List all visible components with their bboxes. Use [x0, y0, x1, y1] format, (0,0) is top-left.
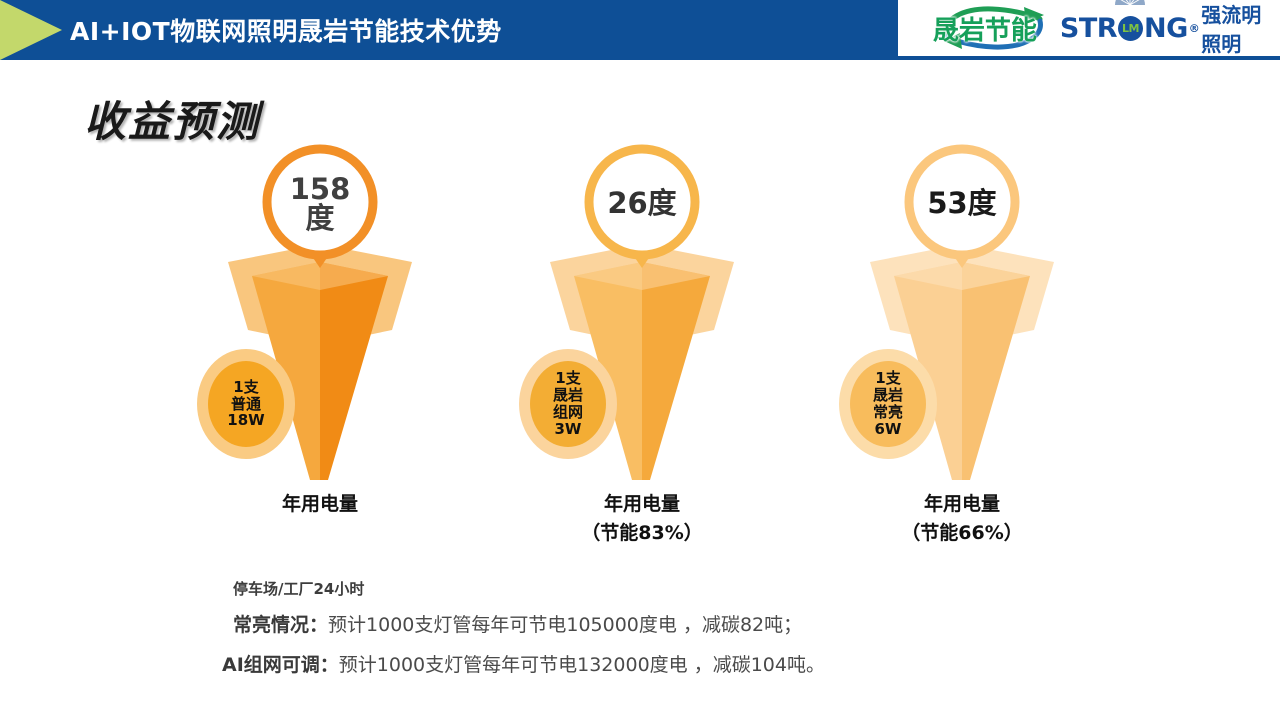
funnel-chart: 158 度 1支 普通 18W 年用电量 26度	[0, 140, 1280, 570]
funnel-caption-sub: （节能83%）	[482, 519, 802, 548]
pin-circle	[589, 149, 695, 255]
logo-brand-chinese: 强流明照明	[1201, 0, 1280, 56]
funnel-caption-main: 年用电量	[282, 493, 358, 515]
logo-lm-text: LM	[1118, 16, 1143, 41]
funnel-cone-right	[642, 262, 710, 480]
funnel-column: 158 度 1支 普通 18W 年用电量	[160, 140, 480, 570]
logo-chinese-text: 晟岩节能	[933, 10, 1037, 47]
logo-o-circle: LM	[1118, 16, 1143, 41]
logo-brand-text: STR LM NG ®	[1060, 13, 1199, 44]
logo-brand-prefix: STR	[1060, 13, 1117, 44]
note-line-always-on: 常亮情况：预计1000支灯管每年可节电105000度电 ，减碳82吨；	[233, 610, 802, 637]
funnel-cone-right	[962, 262, 1030, 480]
chevron-right-icon	[0, 0, 62, 60]
funnel-caption: 年用电量 （节能83%）	[482, 490, 802, 549]
note-scene: 停车场/工厂24小时	[233, 578, 364, 599]
funnel-column: 26度 1支 晟岩 组网 3W 年用电量 （节能83%）	[482, 140, 802, 570]
lamp-badge: 1支 晟岩 常亮 6W	[838, 348, 938, 460]
note-body: 预计1000支灯管每年可节电105000度电 ，减碳82吨；	[328, 614, 802, 636]
logo-strong-mark: STR LM NG ® 强流明照明	[1060, 0, 1280, 56]
funnel-caption: 年用电量 （节能66%）	[802, 490, 1122, 549]
pin-circle	[267, 149, 373, 255]
logo-chinese-mark: 晟岩节能	[912, 4, 1058, 52]
registered-trademark-icon: ®	[1189, 22, 1200, 35]
note-lead: AI组网可调：	[222, 654, 339, 676]
badge-label: 1支 普通 18W	[227, 379, 264, 429]
funnel-caption: 年用电量	[160, 490, 480, 519]
badge-label: 1支 晟岩 组网 3W	[553, 370, 583, 437]
company-logo: 晟岩节能 STR LM NG ® 强流明照明	[895, 0, 1280, 56]
note-body: 预计1000支灯管每年可节电132000度电 ，减碳104吨。	[339, 654, 825, 676]
funnel-cone-right	[320, 262, 388, 480]
logo-brand-suffix: NG	[1144, 13, 1188, 44]
funnel-column: 53度 1支 晟岩 常亮 6W 年用电量 （节能66%）	[802, 140, 1122, 570]
funnel-caption-sub: （节能66%）	[802, 519, 1122, 548]
badge-label: 1支 晟岩 常亮 6W	[873, 370, 903, 437]
lamp-badge: 1支 晟岩 组网 3W	[518, 348, 618, 460]
funnel-caption-main: 年用电量	[604, 493, 680, 515]
note-lead: 常亮情况：	[233, 614, 328, 636]
funnel-caption-main: 年用电量	[924, 493, 1000, 515]
note-line-ai-network: AI组网可调：预计1000支灯管每年可节电132000度电 ，减碳104吨。	[222, 650, 825, 677]
pin-circle	[909, 149, 1015, 255]
page-title: AI+IOT物联网照明晟岩节能技术优势	[70, 12, 502, 48]
fan-icon	[1114, 0, 1146, 6]
lamp-badge: 1支 普通 18W	[196, 348, 296, 460]
